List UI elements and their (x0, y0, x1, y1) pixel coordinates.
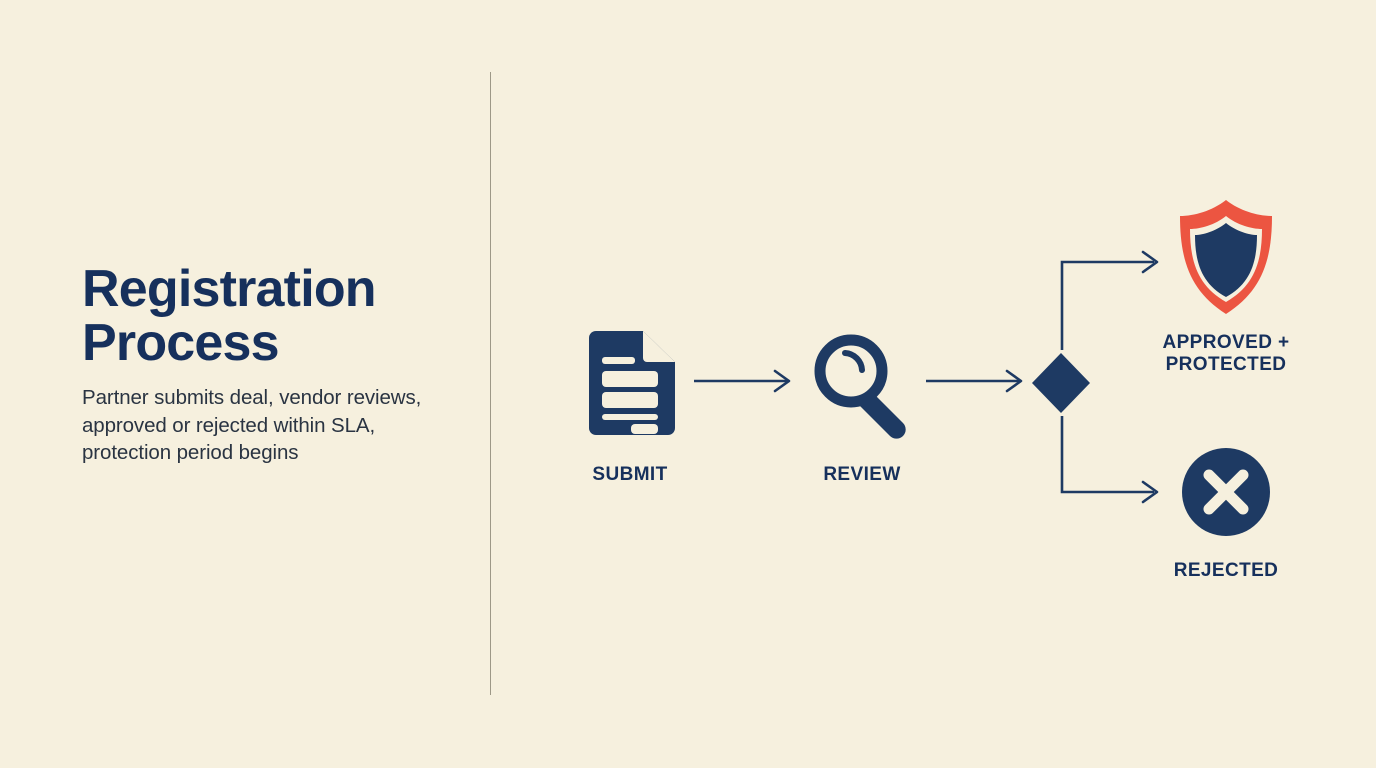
slide-canvas: Registration Process Partner submits dea… (0, 0, 1376, 768)
node-review-label: REVIEW (772, 464, 952, 486)
document-icon (583, 329, 677, 437)
node-submit[interactable]: SUBMIT (540, 322, 720, 486)
flow-diagram: SUBMIT REVIEW APPROVED + P (0, 0, 1376, 768)
review-icon-wrap (772, 322, 952, 444)
magnifier-icon (810, 330, 914, 436)
rejected-icon-wrap (1136, 442, 1316, 542)
node-review[interactable]: REVIEW (772, 322, 952, 486)
shield-icon (1172, 196, 1280, 318)
approved-icon-wrap (1136, 196, 1316, 318)
node-approved-label: APPROVED + PROTECTED (1136, 332, 1316, 377)
x-circle-icon (1181, 447, 1271, 537)
node-approved[interactable]: APPROVED + PROTECTED (1136, 196, 1316, 377)
node-rejected-label: REJECTED (1136, 560, 1316, 582)
node-submit-label: SUBMIT (540, 464, 720, 486)
submit-icon-wrap (540, 322, 720, 444)
diamond-icon (1031, 352, 1091, 414)
node-rejected[interactable]: REJECTED (1136, 442, 1316, 582)
decision-diamond-node[interactable] (1031, 352, 1091, 414)
